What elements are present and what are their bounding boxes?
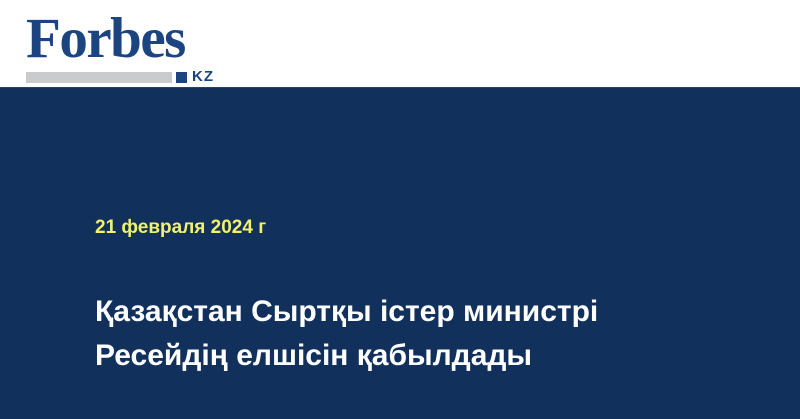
page-title: Қазақстан Сыртқы істер министрі Ресейдің… — [95, 290, 735, 378]
article-card: Forbes KZ 21 февраля 2024 г Қазақстан Сы… — [0, 0, 800, 419]
logo-square-icon — [176, 72, 187, 83]
site-header: Forbes KZ — [0, 0, 800, 88]
logo-country-suffix: KZ — [192, 69, 214, 84]
logo-rule-bar — [26, 72, 172, 83]
hero-panel: 21 февраля 2024 г Қазақстан Сыртқы істер… — [0, 88, 800, 419]
logo-wordmark: Forbes — [26, 10, 185, 67]
publish-date: 21 февраля 2024 г — [95, 216, 266, 240]
forbes-kz-logo[interactable]: Forbes KZ — [26, 10, 236, 82]
